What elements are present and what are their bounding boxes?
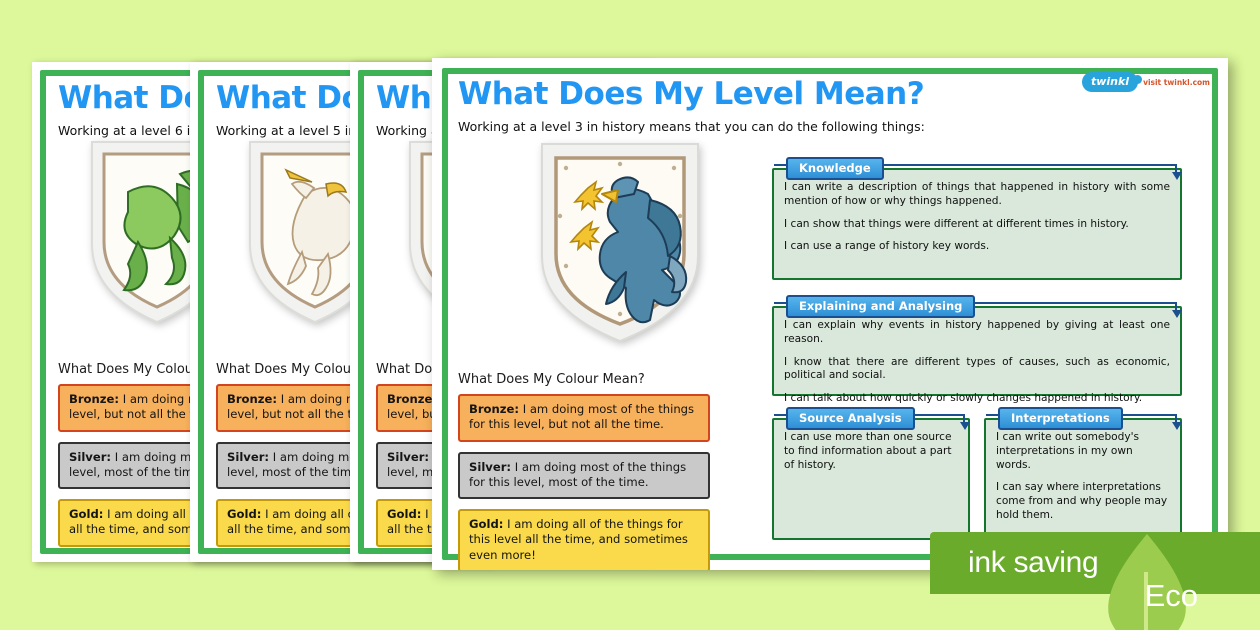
medal-silver: Silver: I am doing most of the things fo… — [458, 452, 710, 500]
twinkl-logo[interactable]: twinkl visit twinkl.com — [1082, 72, 1210, 92]
connector-arrow-icon — [1172, 310, 1182, 318]
criteria-item: I can use more than one source to find i… — [784, 431, 958, 472]
criteria-tab-source-analysis: Source Analysis — [786, 407, 915, 430]
connector-arrow-icon — [1172, 172, 1182, 180]
criteria-list: I can write a description of things that… — [774, 170, 1180, 262]
twinkl-wordmark: twinkl — [1082, 72, 1138, 92]
criteria-item: I can use a range of history key words. — [784, 240, 1170, 254]
eco-badge-text: ink saving — [968, 546, 1098, 580]
medal-gold-label: Gold: — [469, 517, 503, 531]
criteria-item: I know that there are different types of… — [784, 356, 1170, 384]
criteria-box-knowledge: Knowledge I can write a description of t… — [772, 168, 1182, 280]
criteria-box-interpretations: Interpretations I can write out somebody… — [984, 418, 1182, 540]
criteria-tab-knowledge: Knowledge — [786, 157, 884, 180]
criteria-list: I can explain why events in history happ… — [774, 308, 1180, 414]
medal-gold-label: Gold: — [227, 507, 261, 521]
criteria-tab-interpretations: Interpretations — [998, 407, 1123, 430]
medal-silver-label: Silver: — [469, 460, 511, 474]
criteria-item: I can explain why events in history happ… — [784, 319, 1170, 347]
sheet-content: What Does My Level Mean? Working at a le… — [432, 58, 1228, 570]
medal-silver-label: Silver: — [387, 450, 429, 464]
twinkl-url-text: visit twinkl.com — [1143, 78, 1210, 87]
medal-gold-label: Gold: — [387, 507, 421, 521]
eco-badge-label: Eco — [1145, 578, 1198, 614]
medal-bronze-label: Bronze: — [227, 392, 277, 406]
poster-sheet-level-3-front[interactable]: What Does My Level Mean? Working at a le… — [432, 58, 1228, 570]
medal-gold-label: Gold: — [69, 507, 103, 521]
medal-bronze-label: Bronze: — [469, 402, 519, 416]
criteria-box-explaining-and-analysing: Explaining and Analysing I can explain w… — [772, 306, 1182, 396]
criteria-item: I can talk about how quickly or slowly c… — [784, 392, 1170, 406]
criteria-item: I can say where interpretations come fro… — [996, 481, 1170, 522]
medal-bronze-label: Bronze: — [387, 392, 437, 406]
colour-key-heading: What Does My Colour Mean? — [458, 372, 710, 387]
criteria-box-source-analysis: Source Analysis I can use more than one … — [772, 418, 970, 540]
connector-arrow-icon — [960, 422, 970, 430]
criteria-item: I can show that things were different at… — [784, 218, 1170, 232]
medal-gold: Gold: I am doing all of the things for t… — [458, 509, 710, 570]
colour-key-section: What Does My Colour Mean? Bronze: I am d… — [458, 372, 710, 570]
criteria-item: I can write out somebody's interpretatio… — [996, 431, 1170, 472]
connector-arrow-icon — [1172, 422, 1182, 430]
medal-bronze-label: Bronze: — [69, 392, 119, 406]
page-subtitle: Working at a level 3 in history means th… — [458, 119, 1212, 134]
criteria-tab-explaining-and-analysing: Explaining and Analysing — [786, 295, 975, 318]
criteria-item: I can write a description of things that… — [784, 181, 1170, 209]
medal-silver-label: Silver: — [69, 450, 111, 464]
shield-griffin-blue — [530, 136, 710, 348]
medal-bronze: Bronze: I am doing most of the things fo… — [458, 394, 710, 442]
medal-silver-label: Silver: — [227, 450, 269, 464]
